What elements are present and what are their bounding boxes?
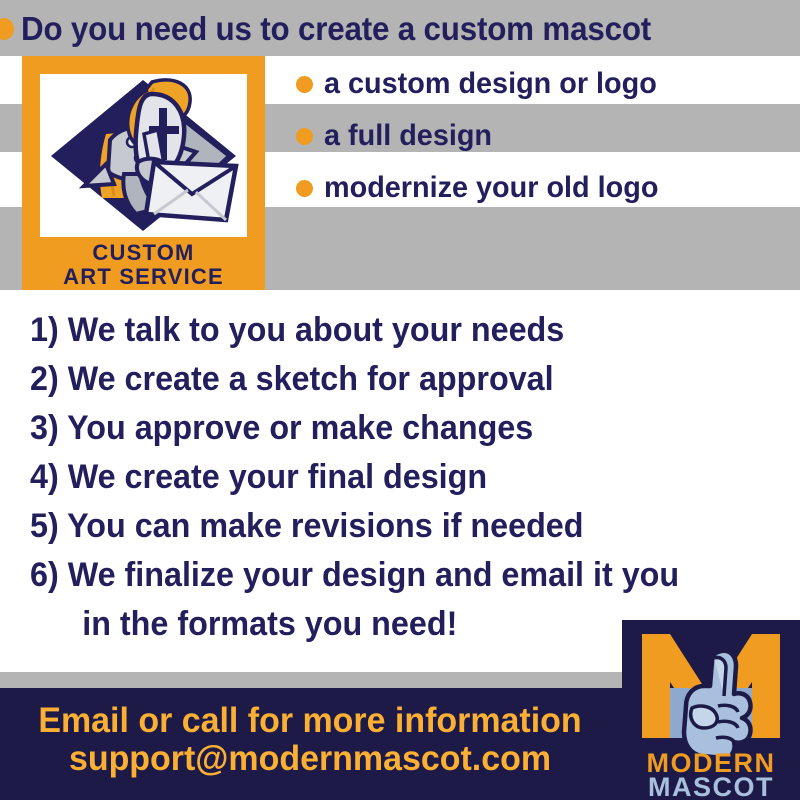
contact-banner-line-1: Email or call for more information: [9, 702, 610, 740]
orange-dot-icon: [296, 128, 313, 145]
list-item: a full design: [296, 110, 800, 162]
step-item: 2) We create a sketch for approval: [30, 355, 743, 404]
step-item: 5) You can make revisions if needed: [30, 502, 743, 551]
orange-dot-icon: [0, 18, 14, 40]
process-steps-list: 1) We talk to you about your needs 2) We…: [30, 306, 780, 649]
modern-mascot-logo: MODERN MASCOT: [622, 620, 800, 800]
custom-art-service-logo: CUSTOM ART SERVICE: [22, 56, 265, 290]
custom-art-service-caption: CUSTOM ART SERVICE: [40, 237, 247, 289]
list-item: a custom design or logo: [296, 58, 800, 110]
knight-mascot-icon: [40, 74, 247, 237]
brand-name-line-2: MASCOT: [648, 772, 774, 800]
step-item: 6) We finalize your design and email it …: [30, 551, 743, 600]
headline-text: Do you need us to create a custom mascot: [21, 12, 651, 46]
caption-line-1: CUSTOM: [40, 241, 247, 265]
headline: Do you need us to create a custom mascot: [0, 8, 800, 50]
poster-canvas: Do you need us to create a custom mascot: [0, 0, 800, 800]
list-item-label: a custom design or logo: [324, 68, 657, 100]
orange-dot-icon: [296, 76, 313, 93]
contact-email[interactable]: support@modernmascot.com: [9, 740, 610, 778]
orange-dot-icon: [296, 180, 313, 197]
service-bullet-list: a custom design or logo a full design mo…: [296, 58, 800, 214]
list-item: modernize your old logo: [296, 162, 800, 214]
list-item-label: modernize your old logo: [324, 172, 658, 204]
list-item-label: a full design: [324, 120, 492, 152]
step-item: 1) We talk to you about your needs: [30, 306, 743, 355]
caption-line-2: ART SERVICE: [40, 265, 247, 289]
step-item: 4) We create your final design: [30, 453, 743, 502]
step-item: 3) You approve or make changes: [30, 404, 743, 453]
